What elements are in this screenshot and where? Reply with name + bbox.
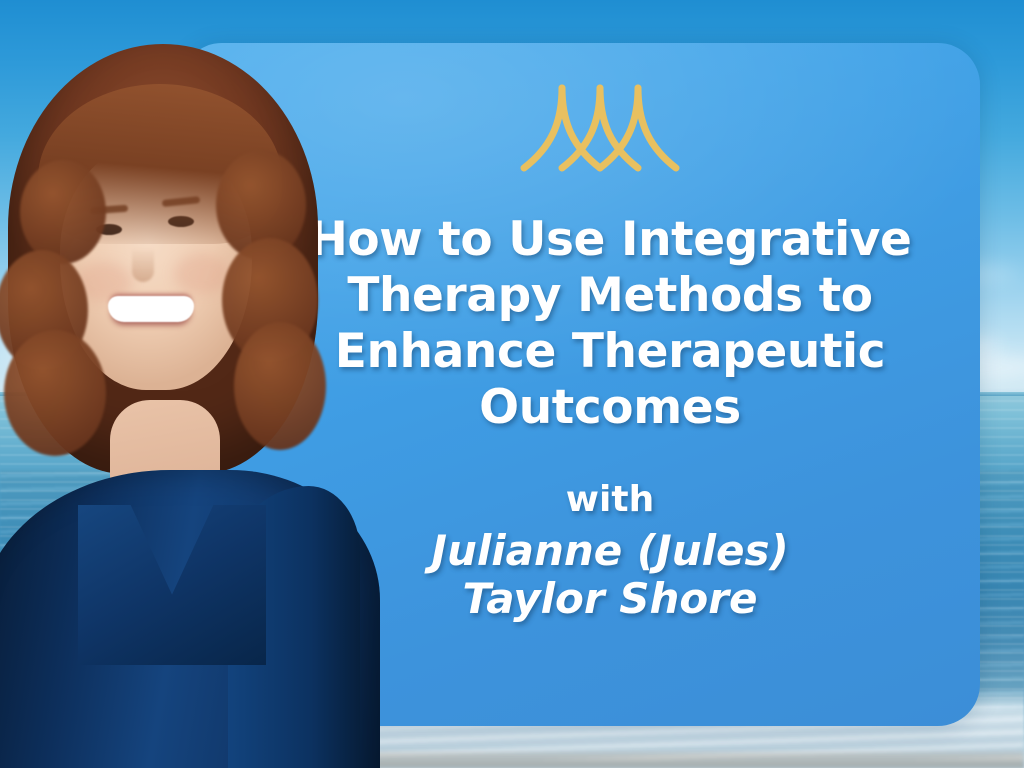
smile <box>108 296 194 322</box>
cheek-right <box>174 254 230 294</box>
hair-curl <box>4 330 106 456</box>
hair-curl <box>20 160 106 264</box>
triple-arch-waves-logo-icon <box>520 76 680 192</box>
presenter-photo <box>0 0 400 768</box>
nose <box>132 248 154 282</box>
slide-canvas: How to Use Integrative Therapy Methods t… <box>0 0 1024 768</box>
hair-curl <box>234 322 326 450</box>
